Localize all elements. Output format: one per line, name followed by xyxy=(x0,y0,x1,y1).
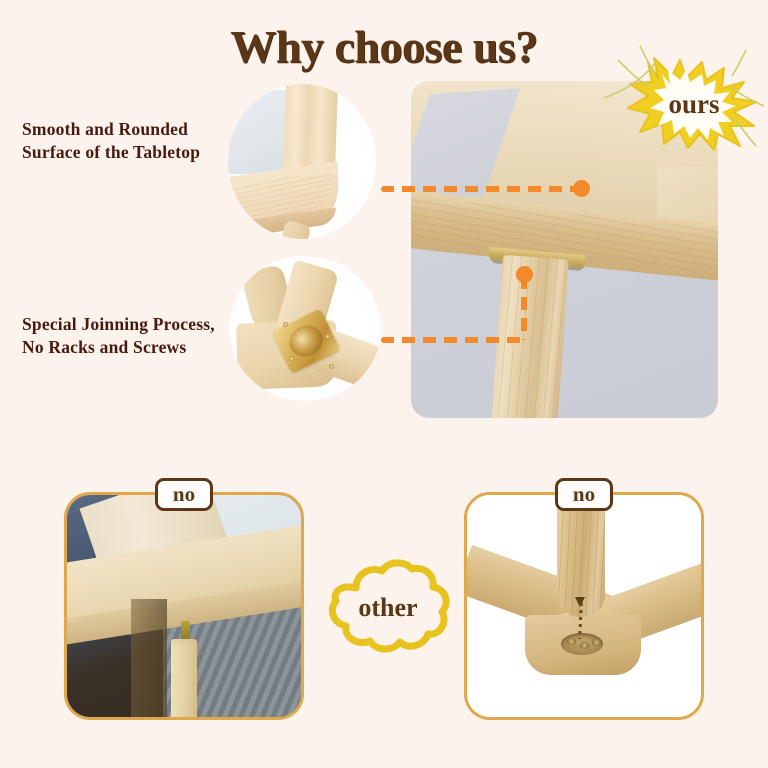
shadowed-leg xyxy=(131,599,167,720)
connector-dot-bottom xyxy=(516,266,533,283)
connector-line-top xyxy=(381,186,577,192)
spark-lines-icon xyxy=(596,44,768,164)
other-badge-label: other xyxy=(322,558,454,658)
other-badge: other xyxy=(322,558,454,658)
screw-head xyxy=(580,642,589,649)
corner-joint-art xyxy=(229,256,381,401)
no-badge-right: no xyxy=(555,478,613,511)
connector-line-bottom xyxy=(381,337,527,343)
rounded-tabletop-corner-art xyxy=(228,84,376,239)
plate-screw xyxy=(283,322,288,327)
table-leg xyxy=(171,645,197,720)
plate-screw xyxy=(329,364,334,369)
plate-screw xyxy=(325,334,330,339)
connector-line-bottom-vertical xyxy=(521,276,527,340)
competitor-leg-screw-photo xyxy=(464,492,704,720)
competitor-tabletop-photo xyxy=(64,492,304,720)
connector-dot-top xyxy=(573,180,590,197)
feature-label-smooth-rounded-surface: Smooth and Rounded Surface of the Tablet… xyxy=(22,118,222,164)
plate-screw xyxy=(289,356,294,361)
inset-photo-corner-joint-brass-plate xyxy=(229,256,381,401)
feature-label-special-joining-process: Special Joinning Process, No Racks and S… xyxy=(22,313,222,359)
screw-head xyxy=(567,638,576,645)
exposed-screw xyxy=(181,621,190,641)
inset-photo-rounded-tabletop-corner xyxy=(228,84,376,239)
screw-head xyxy=(592,639,601,646)
no-badge-left: no xyxy=(155,478,213,511)
infographic-page: Why choose us? Smooth and Rounded Surfac… xyxy=(0,0,768,768)
